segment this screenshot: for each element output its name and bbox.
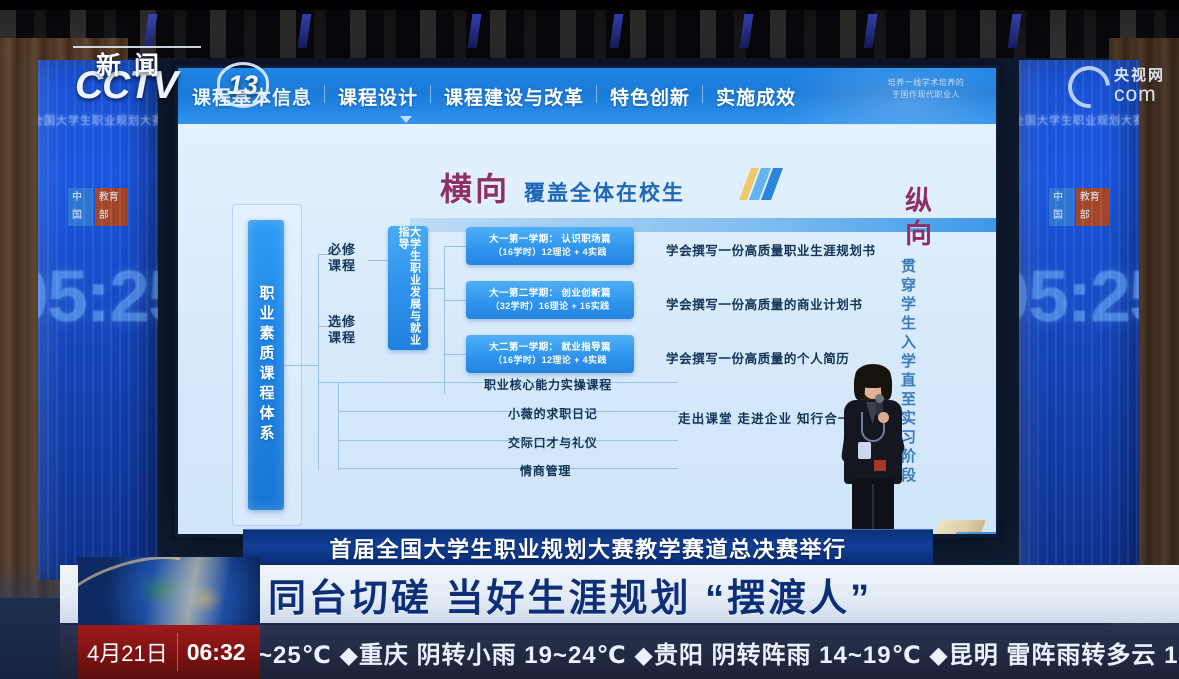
weather-ticker-text: ~25℃ ◆重庆 阴转小雨 19~24℃ ◆贵阳 阴转阵雨 14~19℃ ◆昆明… [258,635,1179,670]
presenter [836,366,910,536]
lower-third-headline-text: 同台切磋 当好生涯规划 “摆渡人” [268,567,872,622]
side-banner-time-left: 05:25 [38,256,158,338]
connector [444,246,466,247]
cctv-ring-icon [1059,57,1118,116]
connector [318,254,319,470]
lower-third-subtitle: 首届全国大学生职业规划大赛教学赛道总决赛举行 [243,529,933,565]
outcome-1: 学会撰写一份高质量职业生涯规划书 [666,240,876,259]
channel-name-text: 新闻 [96,46,172,82]
badge-right-label: 教育部 [1076,188,1109,226]
channel-number-badge: 13 [217,62,269,108]
ticker-date: 4月21日 [78,636,168,668]
slide-motto-line2: 于国作现代职业人 [870,89,982,101]
elective-3: 交际口才与礼仪 [508,434,598,451]
semester-box-3: 大二第一学期： 就业指导篇 （16学时）12理论 + 4实践 [466,335,634,373]
semester-box-1: 大一第一学期： 认识职场篇 （16学时）12理论 + 4实践 [466,227,634,265]
side-banner-badge: 中国 教育部 [68,188,128,226]
cctv-com-stack: 央视网 com [1114,68,1165,106]
branch-required-line1: 必修 [328,242,356,258]
ceiling-lighting-rig [0,10,1179,58]
connector [444,246,445,394]
system-title-text: 职业素质课程体系 [256,285,277,445]
microphone-head-icon [875,394,884,403]
system-title-bar: 职业素质课程体系 [248,220,284,510]
side-banner-time-right: 05:25 [1019,256,1139,338]
tab-active-caret-icon [400,116,412,123]
connector [338,382,339,470]
semester-3-line2: （16学时）12理论 + 4实践 [493,354,607,367]
semester-1-line2: （16学时）12理论 + 4实践 [493,246,607,259]
outcome-3: 学会撰写一份高质量的个人简历 [666,348,849,367]
tab-course-design[interactable]: 课程设计 [338,83,418,110]
outcome-2: 学会撰写一份高质量的商业计划书 [666,294,863,313]
presenter-id-badge [858,442,871,459]
branch-elective-line1: 选修 [328,314,356,330]
connector [428,288,444,289]
branch-required-line2: 课程 [328,258,356,274]
presenter-emblem [874,460,886,471]
book-icon [733,166,785,202]
semester-box-2: 大一第二学期： 创业创新篇 （32学时）16理论 + 16实践 [466,281,634,319]
slide-motto-line1: 培养一线学术培养的 [870,77,982,89]
connector [444,354,466,355]
connector [368,260,390,261]
globe-graphic [78,557,260,625]
datetime-bar: 4月21日 06:32 [78,625,260,679]
branch-required-label: 必修 课程 [328,242,356,275]
practice-slogan: 走出课堂 走进企业 知行合一 [678,408,852,427]
badge-right-label: 教育部 [95,188,128,226]
slide-heading: 横向 覆盖全体在校生 [440,164,685,210]
badge-left-label: 中国 [68,188,93,226]
tab-course-construction-reform[interactable]: 课程建设与改革 [444,83,584,110]
elective-2: 小薇的求职日记 [508,405,598,422]
presenter-hand [878,412,889,423]
tab-implementation-results[interactable]: 实施成效 [716,83,796,110]
semester-2-line2: （32学时）16理论 + 16实践 [490,300,609,313]
branch-elective-label: 选修 课程 [328,314,356,347]
connector [284,365,318,366]
ticker-time: 06:32 [187,639,246,666]
semester-3-line1: 大二第一学期： 就业指导篇 [489,341,611,355]
side-banner-logo: 全国大学生职业规划大赛 [38,112,158,128]
cctv-com-en-text: com [1114,84,1165,106]
decoration-shape [948,532,996,534]
semester-2-line1: 大一第二学期： 创业创新篇 [489,287,611,301]
elective-4: 情商管理 [520,462,571,479]
connector [444,300,466,301]
cctv-com-watermark: 央视网 com [1068,66,1165,108]
semester-1-line1: 大一第一学期： 认识职场篇 [489,233,611,247]
slide-tab-bar: 课程基本信息 课程设计 课程建设与改革 特色创新 实施成效 培养一线学术培养的 … [178,68,996,124]
badge-left-label: 中国 [1049,188,1074,226]
connector [338,468,678,469]
core-course-box: 大学生职业发展与就业指导 [388,226,428,350]
side-banner-logo: 全国大学生职业规划大赛 [1019,112,1139,128]
side-banner-left: 全国大学生职业规划大赛 中国 教育部 05:25 [38,60,158,580]
presenter-hair-left [854,372,865,400]
lower-third-subtitle-text: 首届全国大学生职业规划大赛教学赛道总决赛举行 [329,532,846,564]
branch-elective-line2: 课程 [328,330,356,346]
core-course-text: 大学生职业发展与就业指导 [396,226,419,350]
elective-1: 职业核心能力实操课程 [484,376,612,393]
tab-feature-innovation[interactable]: 特色创新 [610,83,690,110]
side-banner-badge: 中国 教育部 [1049,188,1109,226]
slide-heading-main: 横向 [440,164,510,210]
datetime-divider [177,633,178,671]
vertical-heading-main: 纵向 [897,186,936,252]
broadcast-screenshot: 全国大学生职业规划大赛 中国 教育部 05:25 全国大学生职业规划大赛 中国 … [0,0,1179,679]
slide-motto: 培养一线学术培养的 于国作现代职业人 [870,77,982,101]
datetime-box: 4月21日 06:32 [78,557,260,679]
side-banner-right: 全国大学生职业规划大赛 中国 教育部 05:25 [1019,60,1139,580]
slide-heading-sub: 覆盖全体在校生 [524,177,685,207]
cctv-com-cn-text: 央视网 [1114,68,1165,84]
